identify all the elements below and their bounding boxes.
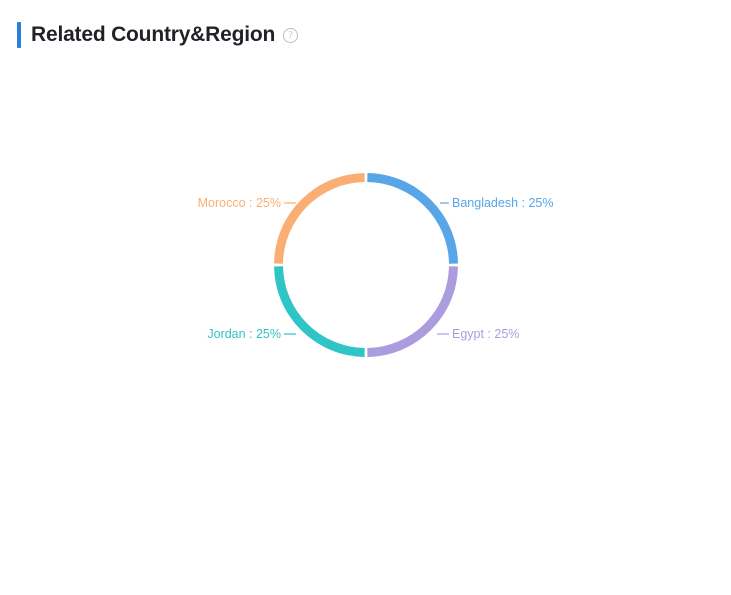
donut-slice-morocco[interactable] — [274, 173, 365, 264]
donut-label-egypt: Egypt : 25% — [452, 327, 519, 341]
donut-chart-container: Bangladesh : 25%Egypt : 25%Jordan : 25%M… — [0, 68, 731, 595]
related-country-region-card: Related Country&Region ? Bangladesh : 25… — [0, 0, 731, 595]
donut-label-jordan: Jordan : 25% — [207, 327, 281, 341]
donut-slice-group — [274, 173, 458, 357]
question-circle-icon[interactable]: ? — [283, 28, 298, 43]
donut-slice-egypt[interactable] — [367, 266, 458, 357]
donut-label-morocco: Morocco : 25% — [198, 196, 281, 210]
page-title: Related Country&Region — [31, 21, 275, 49]
card-header: Related Country&Region ? — [0, 0, 731, 68]
donut-leader-line-group — [284, 203, 449, 334]
donut-chart-svg: Bangladesh : 25%Egypt : 25%Jordan : 25%M… — [0, 68, 731, 595]
title-accent-bar — [17, 22, 21, 48]
donut-slice-jordan[interactable] — [274, 266, 365, 357]
donut-label-bangladesh: Bangladesh : 25% — [452, 196, 553, 210]
donut-slice-bangladesh[interactable] — [367, 173, 458, 264]
donut-label-group: Bangladesh : 25%Egypt : 25%Jordan : 25%M… — [198, 196, 554, 341]
